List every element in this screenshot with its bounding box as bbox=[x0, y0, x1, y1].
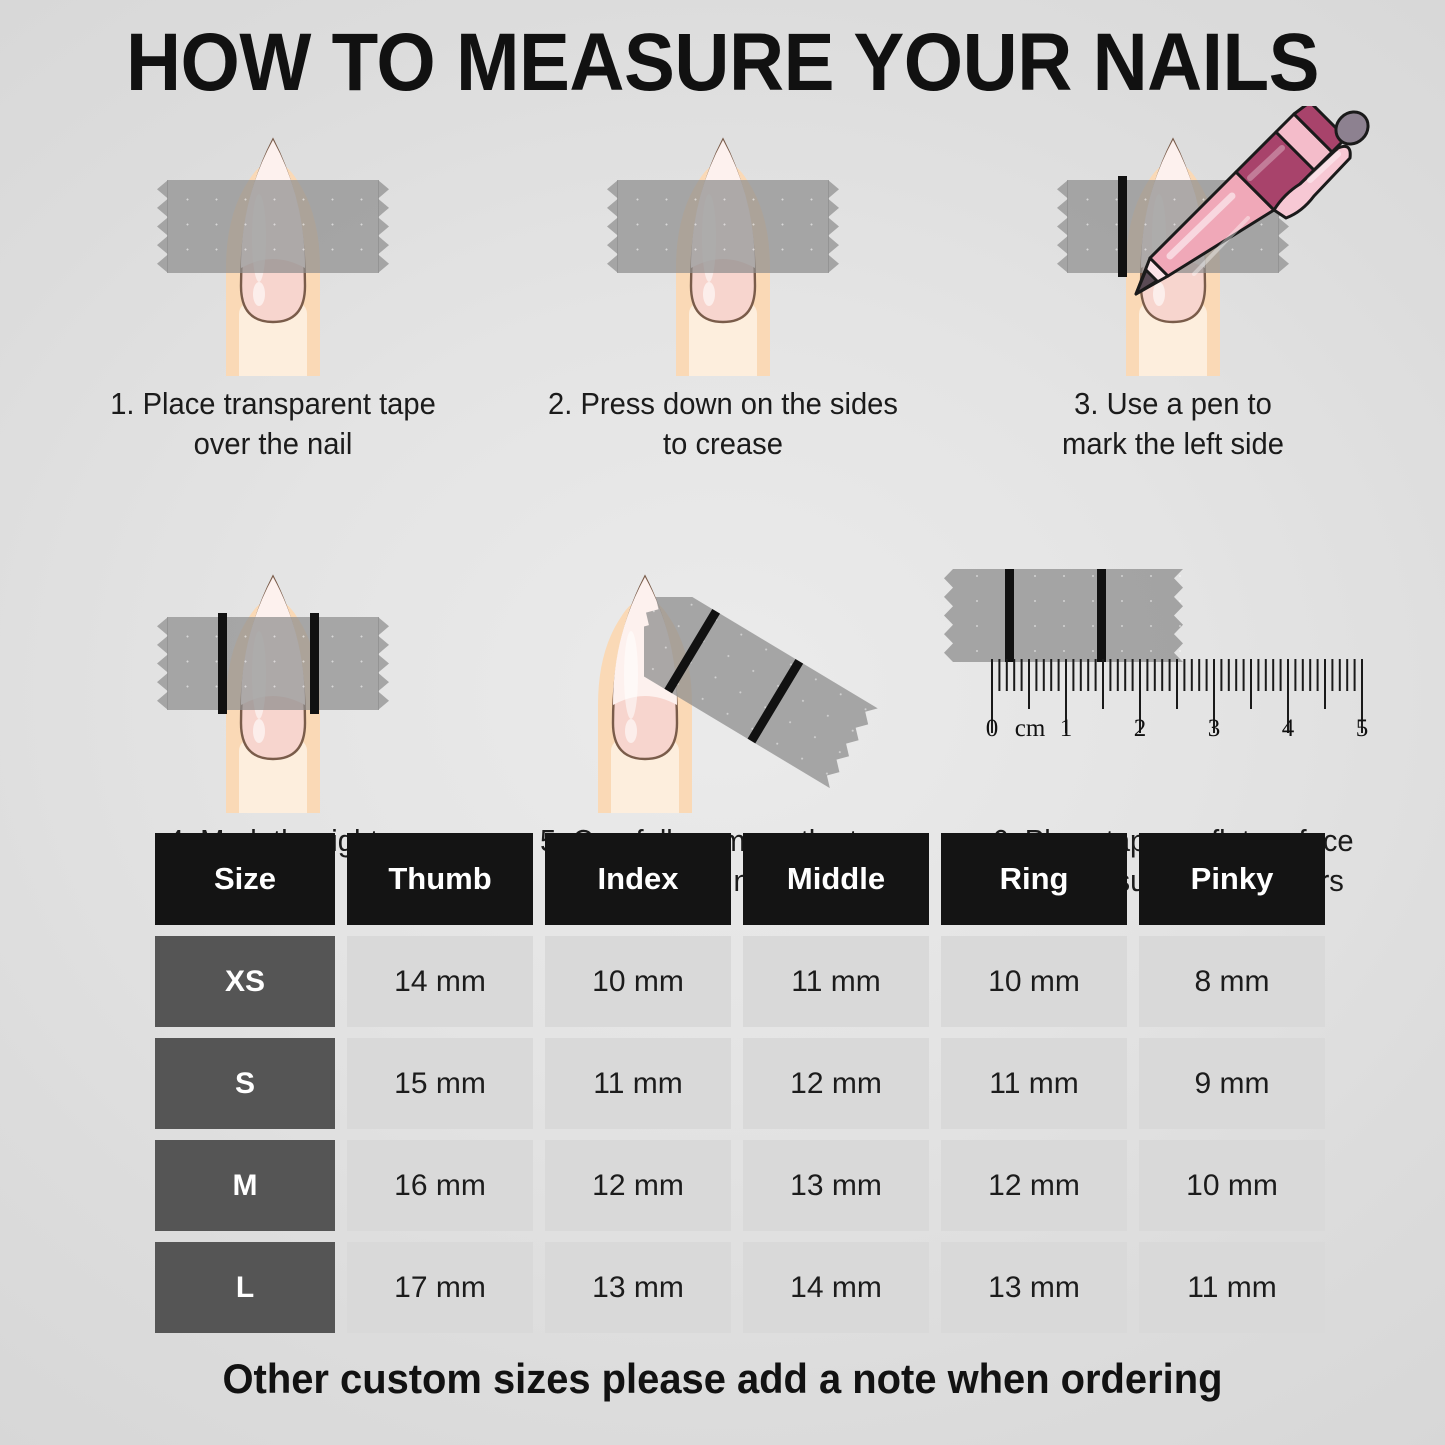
cell-s-pinky: 9 mm bbox=[1139, 1038, 1325, 1129]
tape-edge-left bbox=[157, 617, 168, 710]
tape-texture bbox=[167, 617, 379, 710]
cell-m-thumb: 16 mm bbox=[347, 1140, 533, 1231]
tape-peeled bbox=[644, 597, 964, 812]
table-row: XS 14 mm 10 mm 11 mm 10 mm 8 mm bbox=[155, 936, 1325, 1027]
cell-l-index: 13 mm bbox=[545, 1242, 731, 1333]
step-2: 2. Press down on the sides to crease bbox=[498, 118, 948, 463]
table-header-pinky: Pinky bbox=[1139, 833, 1325, 925]
size-label-s: S bbox=[155, 1038, 335, 1129]
ruler-label-3: 3 bbox=[1208, 715, 1221, 743]
tape-strip bbox=[607, 180, 839, 273]
pen-mark-right bbox=[310, 613, 319, 714]
tape-strip-measured bbox=[942, 569, 1194, 662]
tape-edge-right bbox=[828, 180, 839, 273]
tape-texture bbox=[617, 180, 829, 273]
size-label-l: L bbox=[155, 1242, 335, 1333]
cell-l-pinky: 11 mm bbox=[1139, 1242, 1325, 1333]
tape-edge-left bbox=[607, 180, 618, 273]
step-3-illustration bbox=[948, 118, 1398, 376]
step-2-caption: 2. Press down on the sides to crease bbox=[512, 384, 935, 463]
size-label-xs: XS bbox=[155, 936, 335, 1027]
tape-edge-right bbox=[378, 180, 389, 273]
ruler-label-0: 0 bbox=[986, 715, 999, 743]
size-table: Size Thumb Index Middle Ring Pinky XS 14… bbox=[155, 833, 1325, 1333]
cell-m-middle: 13 mm bbox=[743, 1140, 929, 1231]
step-2-illustration bbox=[498, 118, 948, 376]
step-3-caption: 3. Use a pen to mark the left side bbox=[962, 384, 1385, 463]
table-header-ring: Ring bbox=[941, 833, 1127, 925]
tape-strip bbox=[157, 617, 389, 710]
table-row: S 15 mm 11 mm 12 mm 11 mm 9 mm bbox=[155, 1038, 1325, 1129]
tape-edge-left bbox=[157, 180, 168, 273]
cell-s-ring: 11 mm bbox=[941, 1038, 1127, 1129]
cell-xs-pinky: 8 mm bbox=[1139, 936, 1325, 1027]
tape-edge-left bbox=[1057, 180, 1068, 273]
cell-m-ring: 12 mm bbox=[941, 1140, 1127, 1231]
ruler-label-4: 4 bbox=[1282, 715, 1295, 743]
cell-l-ring: 13 mm bbox=[941, 1242, 1127, 1333]
footer-note: Other custom sizes please add a note whe… bbox=[36, 1355, 1409, 1403]
cell-s-thumb: 15 mm bbox=[347, 1038, 533, 1129]
cell-l-middle: 14 mm bbox=[743, 1242, 929, 1333]
table-header-row: Size Thumb Index Middle Ring Pinky bbox=[155, 833, 1325, 925]
page-title: HOW TO MEASURE YOUR NAILS bbox=[51, 22, 1395, 104]
cell-s-middle: 12 mm bbox=[743, 1038, 929, 1129]
cell-m-pinky: 10 mm bbox=[1139, 1140, 1325, 1231]
step-6-illustration: 0 cm 1 2 3 4 5 bbox=[948, 555, 1398, 813]
table-header-middle: Middle bbox=[743, 833, 929, 925]
step-1-illustration bbox=[48, 118, 498, 376]
ruler-label-5: 5 bbox=[1356, 715, 1369, 743]
step-1-caption: 1. Place transparent tape over the nail bbox=[62, 384, 485, 463]
size-label-m: M bbox=[155, 1140, 335, 1231]
table-row: M 16 mm 12 mm 13 mm 12 mm 10 mm bbox=[155, 1140, 1325, 1231]
ruler-label-2: 2 bbox=[1134, 715, 1147, 743]
table-row: L 17 mm 13 mm 14 mm 13 mm 11 mm bbox=[155, 1242, 1325, 1333]
step-1: 1. Place transparent tape over the nail bbox=[48, 118, 498, 463]
ruler-label-cm: cm bbox=[1015, 715, 1046, 743]
cell-m-index: 12 mm bbox=[545, 1140, 731, 1231]
tape-texture bbox=[167, 180, 379, 273]
ruler-assembly: 0 cm 1 2 3 4 5 bbox=[942, 555, 1392, 813]
table-header-index: Index bbox=[545, 833, 731, 925]
cell-xs-middle: 11 mm bbox=[743, 936, 929, 1027]
step-3: 3. Use a pen to mark the left side bbox=[948, 118, 1398, 463]
tape-edge-right bbox=[378, 617, 389, 710]
pen-mark-left bbox=[218, 613, 227, 714]
steps-grid: 1. Place transparent tape over the nail bbox=[48, 118, 1398, 901]
infographic-root: HOW TO MEASURE YOUR NAILS bbox=[0, 0, 1445, 1445]
table-header-thumb: Thumb bbox=[347, 833, 533, 925]
step-4-illustration bbox=[48, 555, 498, 813]
ruler-label-1: 1 bbox=[1060, 715, 1073, 743]
pen-icon bbox=[1124, 106, 1414, 306]
cell-s-index: 11 mm bbox=[545, 1038, 731, 1129]
step-5-illustration bbox=[498, 555, 948, 813]
cell-xs-thumb: 14 mm bbox=[347, 936, 533, 1027]
cell-l-thumb: 17 mm bbox=[347, 1242, 533, 1333]
cell-xs-ring: 10 mm bbox=[941, 936, 1127, 1027]
steps-row-1: 1. Place transparent tape over the nail bbox=[48, 118, 1398, 463]
tape-strip bbox=[157, 180, 389, 273]
ruler-labels: 0 cm 1 2 3 4 5 bbox=[990, 715, 1380, 755]
cell-xs-index: 10 mm bbox=[545, 936, 731, 1027]
table-header-size: Size bbox=[155, 833, 335, 925]
